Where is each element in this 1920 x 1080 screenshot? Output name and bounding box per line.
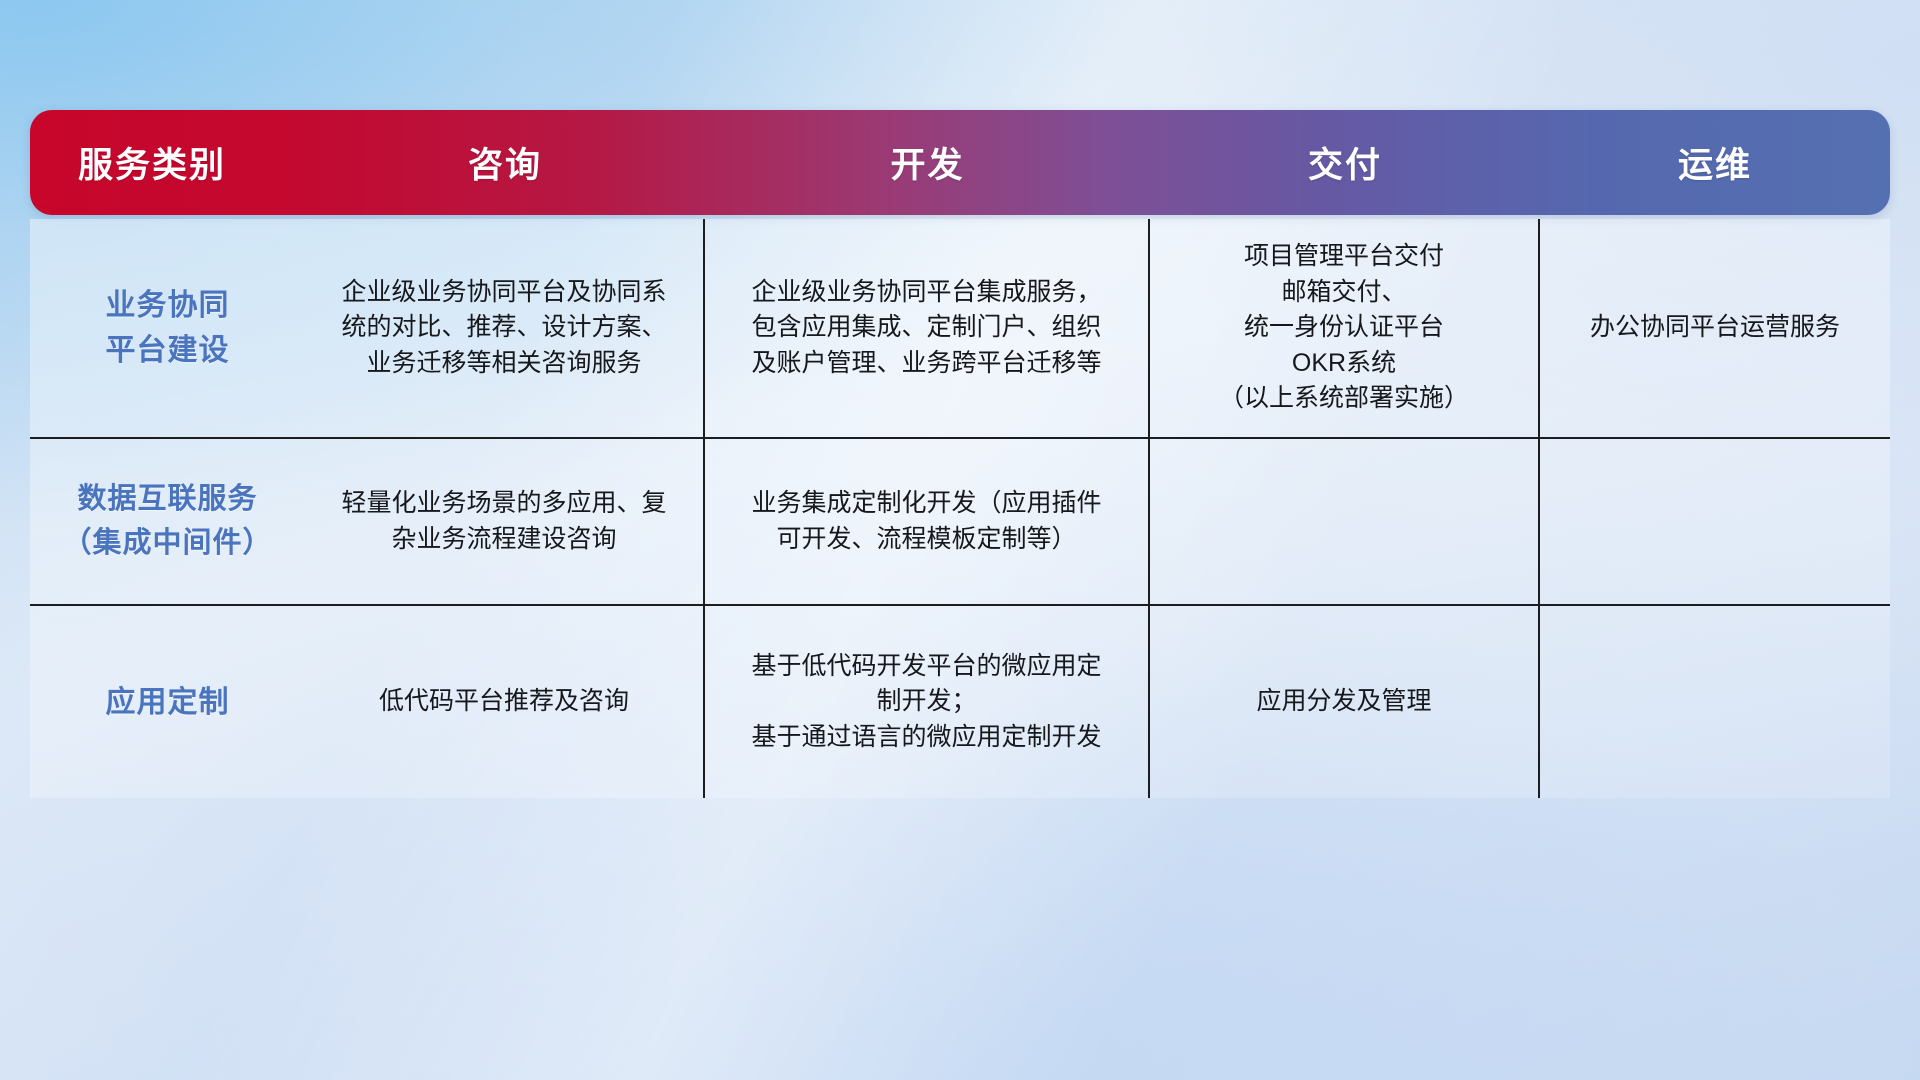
table-body: 业务协同 平台建设 企业级业务协同平台及协同系 统的对比、推荐、设计方案、 业务… [30,219,1890,798]
table-header-row: 服务类别 咨询 开发 交付 运维 [30,110,1890,215]
cell-consulting-business-collaboration: 企业级业务协同平台及协同系 统的对比、推荐、设计方案、 业务迁移等相关咨询服务 [305,219,705,437]
cell-operations-application-customization [1540,606,1890,798]
cell-delivery-business-collaboration: 项目管理平台交付 邮箱交付、 统一身份认证平台 OKR系统 （以上系统部署实施） [1150,219,1540,437]
cell-development-data-interconnection: 业务集成定制化开发（应用插件 可开发、流程模板定制等） [705,439,1150,604]
column-header-category[interactable]: 服务类别 [30,110,305,215]
cell-operations-business-collaboration: 办公协同平台运营服务 [1540,219,1890,437]
cell-operations-data-interconnection [1540,439,1890,604]
table-row: 应用定制 低代码平台推荐及咨询 基于低代码开发平台的微应用定 制开发； 基于通过… [30,606,1890,798]
row-label-business-collaboration: 业务协同 平台建设 [30,219,305,437]
cell-development-business-collaboration: 企业级业务协同平台集成服务， 包含应用集成、定制门户、组织 及账户管理、业务跨平… [705,219,1150,437]
service-matrix-table: 服务类别 咨询 开发 交付 运维 业务协同 平台建设 企业级业务协同平台及协同系… [30,110,1890,798]
column-header-delivery[interactable]: 交付 [1150,110,1540,215]
cell-delivery-data-interconnection [1150,439,1540,604]
table-row: 数据互联服务 （集成中间件） 轻量化业务场景的多应用、复 杂业务流程建设咨询 业… [30,439,1890,606]
row-label-data-interconnection: 数据互联服务 （集成中间件） [30,439,305,604]
row-label-application-customization: 应用定制 [30,606,305,798]
cell-development-application-customization: 基于低代码开发平台的微应用定 制开发； 基于通过语言的微应用定制开发 [705,606,1150,798]
cell-delivery-application-customization: 应用分发及管理 [1150,606,1540,798]
column-header-consulting[interactable]: 咨询 [305,110,705,215]
column-header-operations[interactable]: 运维 [1540,110,1890,215]
column-header-development[interactable]: 开发 [705,110,1150,215]
cell-consulting-data-interconnection: 轻量化业务场景的多应用、复 杂业务流程建设咨询 [305,439,705,604]
cell-consulting-application-customization: 低代码平台推荐及咨询 [305,606,705,798]
table-row: 业务协同 平台建设 企业级业务协同平台及协同系 统的对比、推荐、设计方案、 业务… [30,219,1890,439]
